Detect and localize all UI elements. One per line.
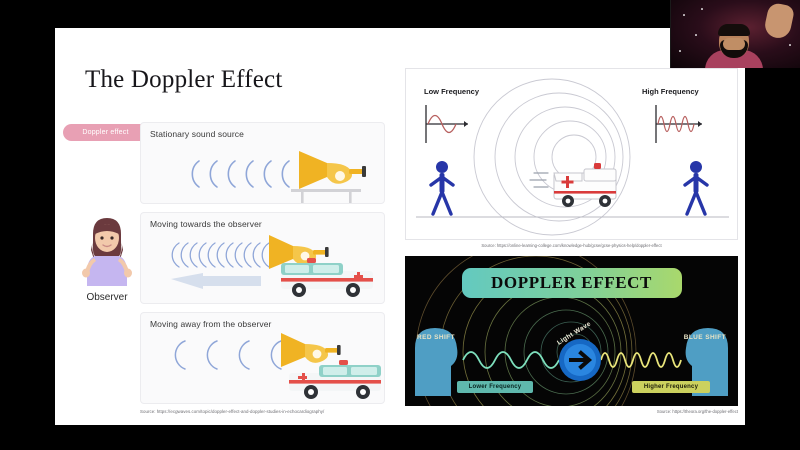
panel-label: Moving away from the observer xyxy=(150,319,271,329)
presentation-slide: The Doppler Effect Doppler effect Observ… xyxy=(55,28,745,425)
status-badge: Doppler effect xyxy=(63,124,148,141)
presenter-figure xyxy=(705,26,763,68)
doppler-ambulance-diagram xyxy=(406,69,739,241)
stationary-source-illustration xyxy=(141,143,385,204)
higher-frequency-label: Higher Frequency xyxy=(632,381,710,393)
source-caption-right-top: Source: https://online-learning-college.… xyxy=(405,243,738,248)
panel-label: Stationary sound source xyxy=(150,129,244,139)
blue-shift-label: BLUE SHIFT xyxy=(684,334,726,341)
panel-label: Moving towards the observer xyxy=(150,219,262,229)
observer-illustration: Observer xyxy=(67,216,147,303)
page-title: The Doppler Effect xyxy=(85,66,283,94)
stick-figure-right xyxy=(685,161,707,214)
panel-frequency-diagram: Low Frequency High Frequency xyxy=(405,68,738,240)
observer-label: Observer xyxy=(86,292,127,303)
red-shift-label: RED SHIFT xyxy=(417,334,455,341)
observer-figure-icon xyxy=(77,216,137,288)
panel-redshift-blueshift: DOPPLER EFFECT RED SHIFT BLUE SHIFT Ligh… xyxy=(405,256,738,406)
panel-moving-away: Moving away from the observer xyxy=(140,312,385,404)
lower-frequency-label: Lower Frequency xyxy=(457,381,533,393)
panel-stationary-source: Stationary sound source xyxy=(140,122,385,204)
source-caption-left: Source: https://ecgwaves.com/topic/doppl… xyxy=(140,409,410,414)
webcam-video-overlay[interactable] xyxy=(670,0,800,68)
ambulance-icon xyxy=(530,163,616,207)
moving-away-illustration xyxy=(141,331,385,403)
stick-figure-left xyxy=(431,161,453,214)
doppler-effect-banner: DOPPLER EFFECT xyxy=(462,268,682,298)
high-frequency-wave xyxy=(601,353,681,367)
moving-towards-illustration xyxy=(141,231,385,303)
panel-moving-towards: Moving towards the observer xyxy=(140,212,385,304)
source-caption-right-bottom: Source: https://theora.org/the-doppler-e… xyxy=(455,409,738,414)
presenter-hand xyxy=(763,2,796,41)
